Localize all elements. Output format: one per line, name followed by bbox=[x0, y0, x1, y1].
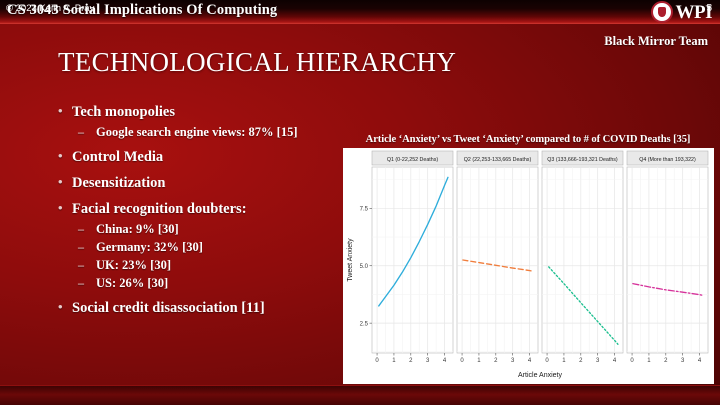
bullet-list: Tech monopolies Google search engine vie… bbox=[56, 104, 356, 321]
svg-text:0: 0 bbox=[375, 358, 379, 364]
team-name: Black Mirror Team bbox=[604, 34, 708, 49]
bullet-item: Tech monopolies bbox=[56, 104, 356, 121]
svg-text:Tweet Anxiety: Tweet Anxiety bbox=[347, 238, 354, 282]
copyright-text: © 2023 Keith A. Pray bbox=[6, 3, 94, 14]
svg-text:3: 3 bbox=[596, 358, 600, 364]
bullet-subitem: Germany: 32% [30] bbox=[56, 240, 356, 255]
bullet-item: Social credit disassociation [11] bbox=[56, 300, 356, 317]
svg-text:0: 0 bbox=[545, 358, 549, 364]
page-number: 5 bbox=[706, 3, 712, 14]
svg-text:1: 1 bbox=[392, 358, 396, 364]
svg-text:1: 1 bbox=[562, 358, 566, 364]
bullet-subitem: US: 26% [30] bbox=[56, 276, 356, 291]
svg-text:1: 1 bbox=[647, 358, 651, 364]
slide-header-bar: CS 3043 Social Implications Of Computing… bbox=[0, 0, 720, 23]
svg-text:7.5: 7.5 bbox=[360, 207, 369, 213]
bullet-item: Desensitization bbox=[56, 175, 356, 192]
svg-text:0: 0 bbox=[460, 358, 464, 364]
svg-text:3: 3 bbox=[681, 358, 685, 364]
svg-text:Q2 (22,253-133,665 Deaths): Q2 (22,253-133,665 Deaths) bbox=[464, 157, 532, 163]
wpi-logo: WPI bbox=[651, 1, 713, 23]
svg-text:3: 3 bbox=[426, 358, 430, 364]
svg-text:Article Anxiety: Article Anxiety bbox=[518, 372, 562, 379]
svg-text:4: 4 bbox=[528, 358, 532, 364]
slide-root: CS 3043 Social Implications Of Computing… bbox=[0, 0, 720, 405]
svg-text:Q4 (More than 193,322): Q4 (More than 193,322) bbox=[639, 157, 696, 163]
chart-plot-area: Q1 (0-22,252 Deaths)012342.55.07.5Q2 (22… bbox=[343, 148, 714, 384]
svg-text:4: 4 bbox=[613, 358, 617, 364]
svg-text:2: 2 bbox=[579, 358, 583, 364]
svg-text:2: 2 bbox=[409, 358, 413, 364]
bullet-subitem: Google search engine views: 87% [15] bbox=[56, 125, 356, 140]
svg-text:Q1 (0-22,252 Deaths): Q1 (0-22,252 Deaths) bbox=[387, 157, 438, 163]
svg-text:2: 2 bbox=[664, 358, 668, 364]
bullet-subitem: China: 9% [30] bbox=[56, 222, 356, 237]
svg-text:4: 4 bbox=[443, 358, 447, 364]
wpi-seal-icon bbox=[651, 1, 673, 23]
svg-text:0: 0 bbox=[630, 358, 634, 364]
svg-text:2: 2 bbox=[494, 358, 498, 364]
slide-footer-bar bbox=[0, 385, 720, 405]
bullet-item: Facial recognition doubters: bbox=[56, 201, 356, 218]
bullet-item: Control Media bbox=[56, 149, 356, 166]
svg-text:3: 3 bbox=[511, 358, 515, 364]
svg-text:2.5: 2.5 bbox=[360, 321, 369, 327]
svg-text:1: 1 bbox=[477, 358, 481, 364]
page-title: TECHNOLOGICAL HIERARCHY bbox=[58, 47, 456, 78]
chart-container: Article ‘Anxiety’ vs Tweet ‘Anxiety’ com… bbox=[343, 134, 713, 384]
bullet-subitem: UK: 23% [30] bbox=[56, 258, 356, 273]
svg-text:5.0: 5.0 bbox=[360, 264, 369, 270]
svg-text:Q3 (133,666-193,321 Deaths): Q3 (133,666-193,321 Deaths) bbox=[547, 157, 618, 163]
svg-text:4: 4 bbox=[698, 358, 702, 364]
chart-caption: Article ‘Anxiety’ vs Tweet ‘Anxiety’ com… bbox=[343, 134, 713, 145]
faceted-line-chart: Q1 (0-22,252 Deaths)012342.55.07.5Q2 (22… bbox=[344, 149, 713, 383]
